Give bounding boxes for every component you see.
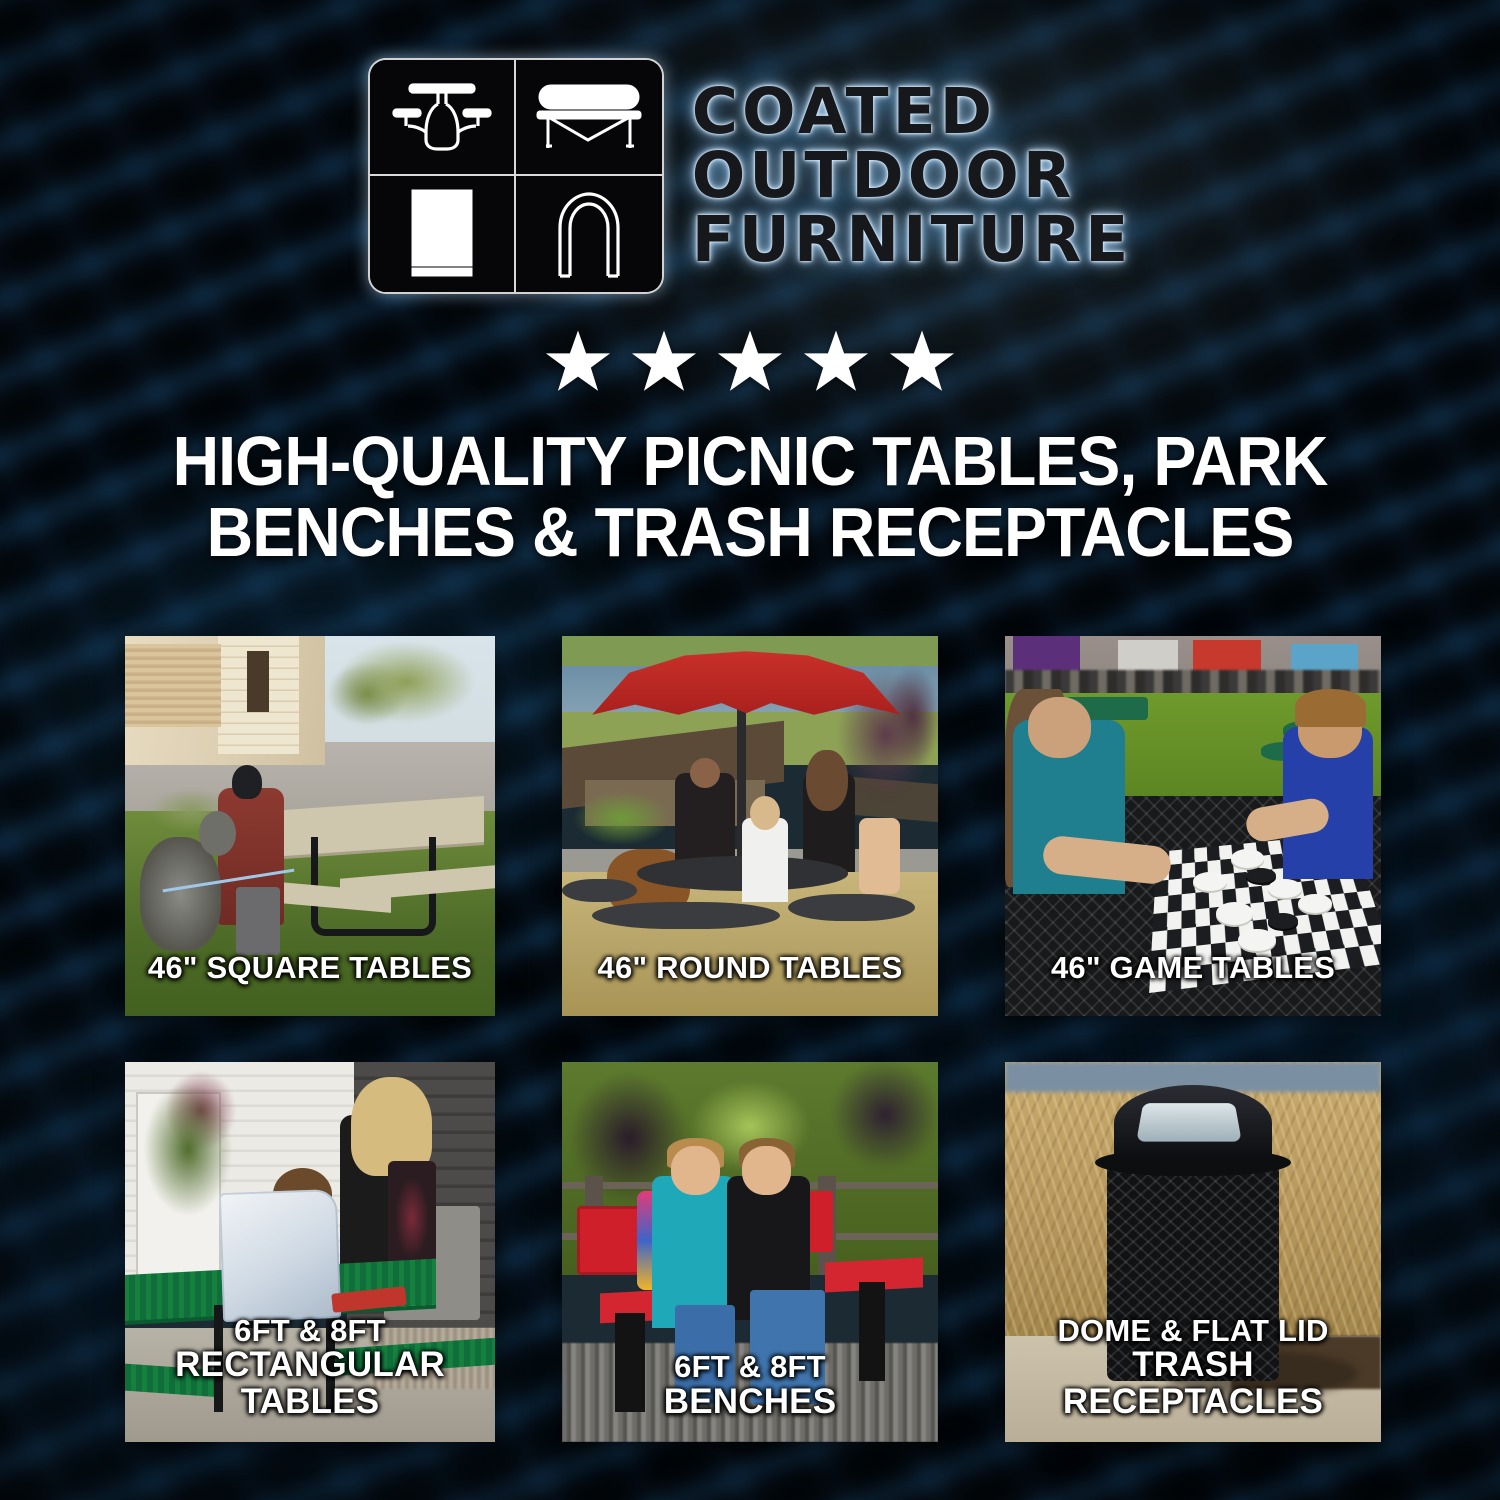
wordmark-line-1: COATED	[692, 81, 1133, 143]
star-icon-4	[801, 328, 871, 400]
caption-line-2: RECTANGULAR TABLES	[125, 1347, 495, 1420]
product-caption: 46" SQUARE TABLES	[125, 952, 495, 984]
star-icon-1	[543, 328, 613, 400]
product-tile-round-tables[interactable]: 46" ROUND TABLES	[562, 636, 938, 1016]
product-caption: 46" GAME TABLES	[1005, 952, 1381, 984]
caption-line-1: 6FT & 8FT	[234, 1313, 386, 1348]
promo-banner: COATED OUTDOOR FURNITURE HIGH-QUALITY PI…	[0, 0, 1500, 1500]
product-caption: 6FT & 8FT RECTANGULAR TABLES	[125, 1315, 495, 1420]
product-caption: 46" ROUND TABLES	[562, 952, 938, 984]
caption-line-1: DOME & FLAT LID	[1057, 1313, 1328, 1348]
caption-line-1: 46" ROUND TABLES	[598, 950, 903, 985]
star-icon-2	[629, 328, 699, 400]
bench-icon	[516, 60, 662, 176]
product-tile-benches[interactable]: 6FT & 8FT BENCHES	[562, 1062, 938, 1442]
headline-line-2: BENCHES & TRASH RECEPTACLES	[60, 497, 1440, 568]
picnic-table-icon	[370, 60, 516, 176]
logo-icon-grid	[368, 58, 664, 294]
caption-line-1: 6FT & 8FT	[674, 1349, 826, 1384]
star-icon-3	[715, 328, 785, 400]
trash-can-icon	[370, 176, 516, 292]
brand-logo: COATED OUTDOOR FURNITURE	[0, 58, 1500, 294]
product-caption: DOME & FLAT LID TRASH RECEPTACLES	[1005, 1315, 1381, 1420]
star-icon-5	[887, 328, 957, 400]
product-tile-rectangular-tables[interactable]: 6FT & 8FT RECTANGULAR TABLES	[125, 1062, 495, 1442]
bike-rack-icon	[516, 176, 662, 292]
caption-line-1: 46" SQUARE TABLES	[148, 950, 472, 985]
product-tile-trash-receptacles[interactable]: DOME & FLAT LID TRASH RECEPTACLES	[1005, 1062, 1381, 1442]
product-caption: 6FT & 8FT BENCHES	[562, 1351, 938, 1420]
wordmark-line-3: FURNITURE	[692, 209, 1133, 271]
star-rating	[0, 328, 1500, 400]
page-title: HIGH-QUALITY PICNIC TABLES, PARK BENCHES…	[60, 426, 1440, 569]
headline-line-1: HIGH-QUALITY PICNIC TABLES, PARK	[60, 426, 1440, 497]
header: COATED OUTDOOR FURNITURE HIGH-QUALITY PI…	[0, 58, 1500, 569]
product-tile-square-tables[interactable]: 46" SQUARE TABLES	[125, 636, 495, 1016]
brand-wordmark: COATED OUTDOOR FURNITURE	[692, 81, 1133, 270]
caption-line-2: TRASH RECEPTACLES	[1005, 1347, 1381, 1420]
caption-line-2: BENCHES	[562, 1384, 938, 1420]
wordmark-line-2: OUTDOOR	[692, 145, 1133, 207]
product-grid: 46" SQUARE TABLES	[125, 636, 1376, 1442]
product-tile-game-tables[interactable]: 46" GAME TABLES	[1005, 636, 1381, 1016]
caption-line-1: 46" GAME TABLES	[1051, 950, 1335, 985]
